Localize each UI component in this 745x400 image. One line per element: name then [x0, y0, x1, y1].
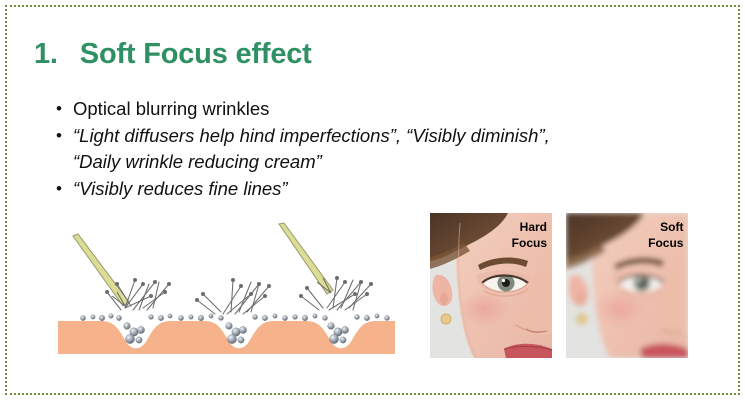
diffuser-particles	[80, 314, 389, 344]
list-item: • Optical blurring wrinkles	[56, 96, 676, 122]
list-item-line: “Light diffusers help hind imperfections…	[73, 123, 676, 149]
page-title: 1. Soft Focus effect	[34, 38, 312, 71]
list-item-line: “Daily wrinkle reducing cream”	[73, 149, 676, 175]
list-item-line: Optical blurring wrinkles	[73, 96, 676, 122]
bullet-icon: •	[56, 176, 73, 202]
bullet-icon: •	[56, 123, 73, 149]
caption-line-2: Focus	[512, 236, 547, 250]
slide: 1. Soft Focus effect • Optical blurring …	[0, 0, 745, 400]
title-number: 1.	[34, 38, 58, 71]
list-item-text: Optical blurring wrinkles	[73, 96, 676, 122]
list-item: • “Light diffusers help hind imperfectio…	[56, 123, 676, 175]
light-scattering-diagram	[55, 218, 400, 368]
caption-line-2: Focus	[648, 236, 683, 250]
focus-comparison: Hard Focus	[430, 213, 688, 358]
scatter-rays	[107, 278, 371, 314]
soft-focus-caption: Soft Focus	[648, 219, 683, 251]
list-item: • “Visibly reduces fine lines”	[56, 176, 676, 202]
caption-line-1: Hard	[520, 220, 547, 234]
hard-focus-caption: Hard Focus	[512, 219, 547, 251]
bullet-list: • Optical blurring wrinkles • “Light dif…	[56, 96, 676, 203]
caption-line-1: Soft	[660, 220, 683, 234]
list-item-line: “Visibly reduces fine lines”	[73, 176, 676, 202]
bullet-icon: •	[56, 96, 73, 122]
list-item-text: “Light diffusers help hind imperfections…	[73, 123, 676, 175]
hard-focus-photo: Hard Focus	[430, 213, 552, 358]
beam-arrowheads	[112, 278, 331, 306]
list-item-text: “Visibly reduces fine lines”	[73, 176, 676, 202]
title-text: Soft Focus effect	[80, 38, 312, 71]
soft-focus-photo: Soft Focus	[566, 213, 688, 358]
